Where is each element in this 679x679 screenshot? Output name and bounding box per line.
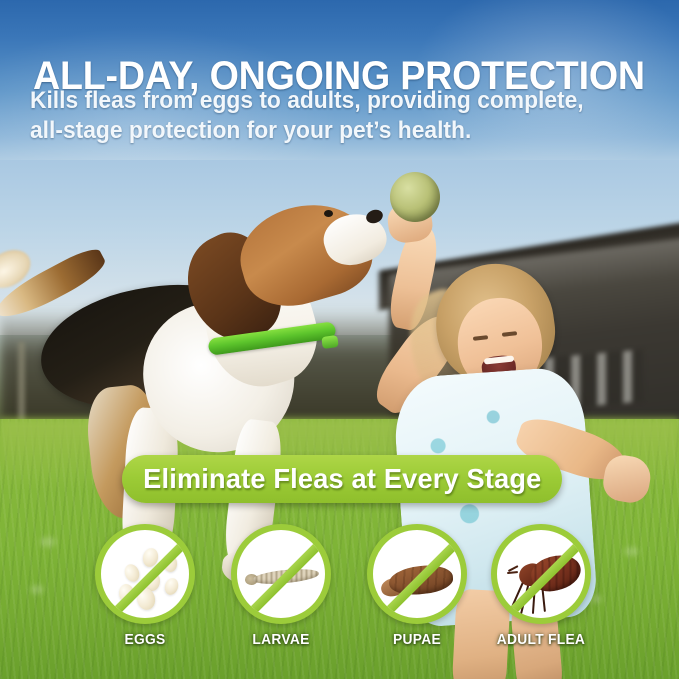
dog-chest bbox=[130, 288, 308, 466]
house-building bbox=[389, 238, 679, 485]
subtitle-line-2: all-stage protection for your pet’s heal… bbox=[30, 116, 584, 146]
stage-label-pupae: PUPAE bbox=[354, 631, 479, 648]
adult-flea-icon bbox=[491, 524, 591, 624]
dog-neck bbox=[191, 248, 330, 399]
stage-item-larvae: LARVAE bbox=[213, 524, 349, 648]
girl-eye-right bbox=[502, 331, 517, 337]
eliminate-fleas-banner: Eliminate Fleas at Every Stage bbox=[122, 455, 562, 503]
flea-collar bbox=[207, 321, 336, 356]
girl-raised-hand bbox=[385, 199, 434, 245]
flea-lifecycle-stages: EGGS LARVAE PUPAE bbox=[0, 524, 679, 652]
dog-muzzle bbox=[318, 206, 392, 273]
house-window bbox=[493, 349, 643, 414]
egg-shape bbox=[163, 576, 181, 596]
subtitle-line-1: Kills fleas from eggs to adults, providi… bbox=[30, 87, 584, 114]
flea-eggs-icon bbox=[95, 524, 195, 624]
sky-background bbox=[0, 160, 679, 335]
girl-hair bbox=[428, 256, 562, 391]
girl-raised-arm-upper bbox=[386, 223, 443, 332]
banner-text: Eliminate Fleas at Every Stage bbox=[143, 463, 541, 495]
girl-face bbox=[454, 295, 546, 396]
dog-eye bbox=[324, 210, 333, 217]
background-treeline bbox=[0, 310, 420, 440]
stage-item-pupae: PUPAE bbox=[349, 524, 485, 648]
girl-extended-hand bbox=[600, 452, 653, 505]
background-pole bbox=[18, 342, 25, 428]
stage-label-larvae: LARVAE bbox=[218, 631, 343, 648]
dog-tail bbox=[0, 244, 110, 327]
flea-pupa-icon bbox=[367, 524, 467, 624]
dog-tail-tip bbox=[0, 242, 37, 295]
dog-nose bbox=[364, 207, 384, 225]
girl-hair-wisp bbox=[395, 282, 501, 418]
dog-ear bbox=[171, 221, 296, 356]
dog-head bbox=[229, 190, 380, 318]
flea-collar-clip bbox=[321, 335, 339, 349]
dog-body bbox=[32, 272, 266, 423]
stage-item-adult-flea: ADULT FLEA bbox=[473, 524, 609, 648]
girl-teeth bbox=[484, 355, 514, 364]
tennis-ball bbox=[390, 172, 440, 222]
stage-label-eggs: EGGS bbox=[82, 631, 207, 648]
girl-eye-left bbox=[473, 335, 488, 341]
stage-label-adult-flea: ADULT FLEA bbox=[478, 631, 603, 648]
subtitle: Kills fleas from eggs to adults, providi… bbox=[30, 86, 584, 146]
girl-mouth bbox=[481, 354, 518, 383]
girl-raised-arm-lower bbox=[367, 307, 468, 421]
flea-larva-icon bbox=[231, 524, 331, 624]
stage-item-eggs: EGGS bbox=[77, 524, 213, 648]
house-roof bbox=[379, 221, 679, 310]
flea-antenna bbox=[507, 571, 518, 574]
product-feature-ad: ALL-DAY, ONGOING PROTECTION Kills fleas … bbox=[0, 0, 679, 679]
